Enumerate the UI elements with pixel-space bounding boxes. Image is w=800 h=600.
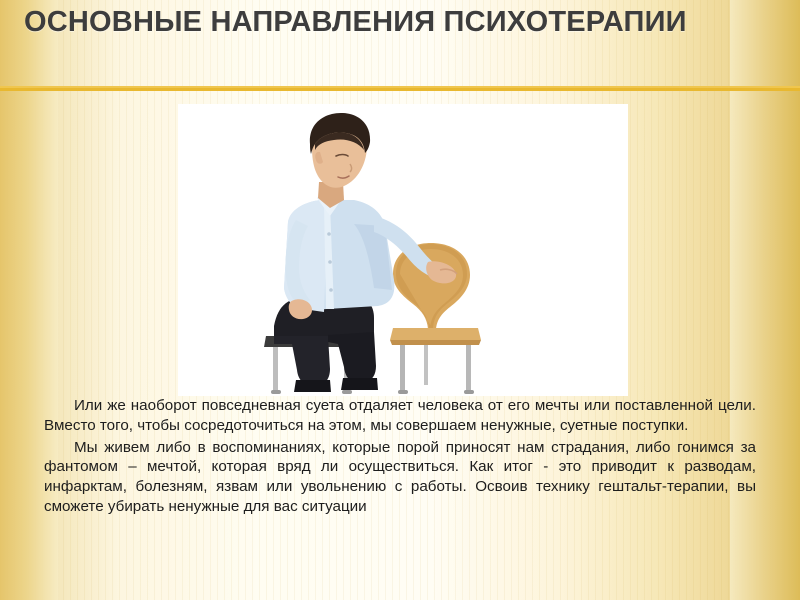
slide-image	[178, 104, 628, 396]
slide: Основные направления психотерапии	[0, 0, 800, 600]
body-paragraph-2: Мы живем либо в воспоминаниях, которые п…	[44, 438, 756, 517]
slide-body-text: Или же наоборот повседневная суета отдал…	[44, 396, 756, 517]
title-divider-highlight	[0, 86, 800, 88]
title-divider	[0, 86, 800, 91]
man-sitting-on-chair-photo	[178, 104, 628, 396]
page-title: Основные направления психотерапии	[24, 6, 782, 39]
title-block: Основные направления психотерапии	[0, 0, 800, 86]
body-paragraph-1: Или же наоборот повседневная суета отдал…	[44, 396, 756, 436]
